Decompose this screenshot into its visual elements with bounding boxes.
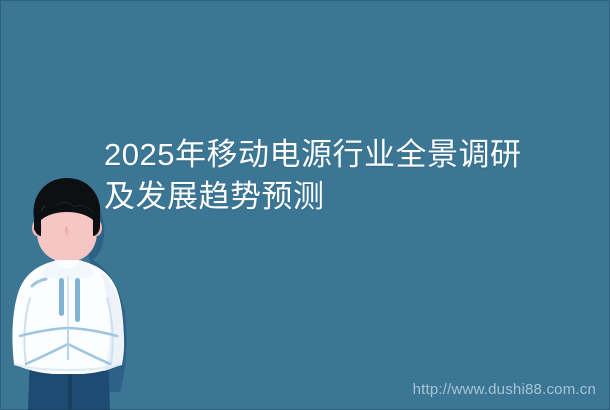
page-title: 2025年移动电源行业全景调研 及发展趋势预测	[104, 134, 574, 218]
report-cover-banner: 2025年移动电源行业全景调研 及发展趋势预测 http://www.dushi…	[0, 0, 610, 410]
title-line-2: 及发展趋势预测	[104, 176, 574, 218]
drawstring-left	[59, 278, 64, 316]
title-line-1: 2025年移动电源行业全景调研	[104, 134, 574, 176]
drawstring-right	[75, 278, 80, 322]
watermark-url: http://www.dushi88.com.cn	[413, 381, 596, 398]
